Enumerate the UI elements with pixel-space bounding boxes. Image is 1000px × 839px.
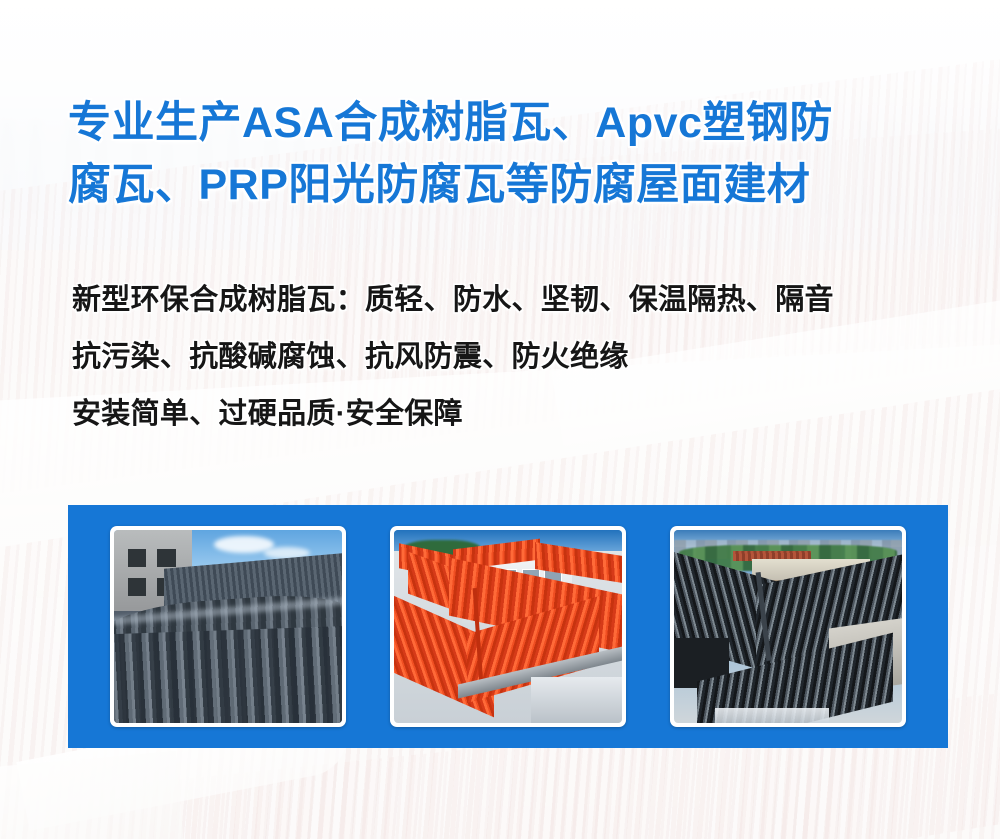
headline-line-1: 专业生产ASA合成树脂瓦、Apvc塑钢防 — [68, 92, 948, 154]
photo1-window — [157, 549, 175, 566]
photo-frame-2[interactable] — [390, 526, 626, 727]
subcopy-line-3: 安装简单、过硬品质·安全保障 — [72, 386, 952, 443]
subcopy-line-1: 新型环保合成树脂瓦：质轻、防水、坚韧、保温隔热、隔音 — [72, 272, 952, 329]
photo-red-resin-tile-roof — [394, 530, 622, 723]
photo1-main-tile-surface-lower — [114, 626, 342, 723]
photo-frame-3[interactable] — [670, 526, 906, 727]
photo-frame-1[interactable] — [110, 526, 346, 727]
photo3-bottom-highlight — [715, 708, 829, 723]
headline: 专业生产ASA合成树脂瓦、Apvc塑钢防 腐瓦、PRP阳光防腐瓦等防腐屋面建材 — [68, 92, 948, 216]
photo-grey-resin-tile-roof — [114, 530, 342, 723]
headline-line-2: 腐瓦、PRP阳光防腐瓦等防腐屋面建材 — [68, 154, 948, 216]
photo1-window — [128, 549, 146, 566]
subcopy: 新型环保合成树脂瓦：质轻、防水、坚韧、保温隔热、隔音 抗污染、抗酸碱腐蚀、抗风防… — [72, 272, 952, 443]
photo2-lower-building — [531, 677, 622, 723]
promo-banner: 专业生产ASA合成树脂瓦、Apvc塑钢防 腐瓦、PRP阳光防腐瓦等防腐屋面建材 … — [0, 0, 1000, 839]
subcopy-line-2: 抗污染、抗酸碱腐蚀、抗风防震、防火绝缘 — [72, 329, 952, 386]
photo-gallery-panel — [68, 505, 948, 748]
photo-black-resin-tile-roof — [674, 530, 902, 723]
photo1-window — [128, 578, 146, 595]
